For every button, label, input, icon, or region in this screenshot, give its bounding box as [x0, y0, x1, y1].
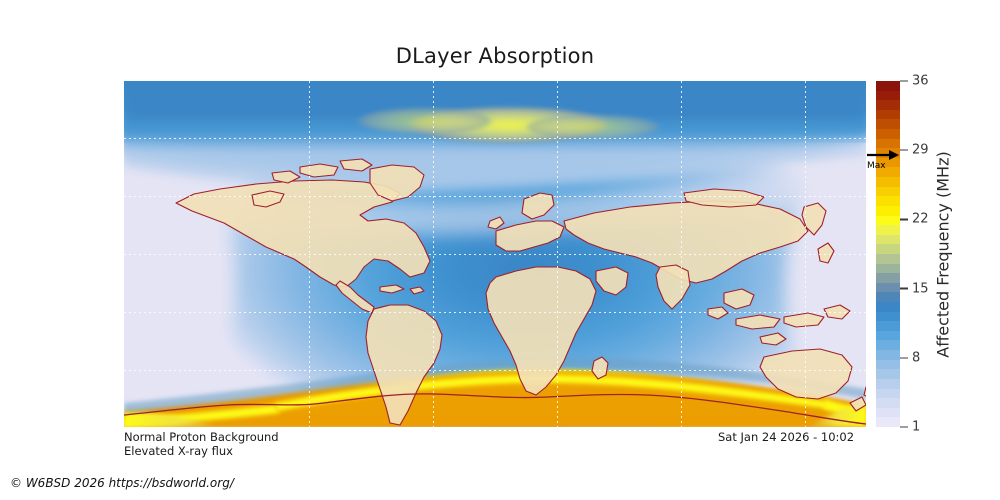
colorbar-tick-dash — [900, 80, 908, 81]
colorbar-segment — [876, 292, 900, 302]
colorbar-segment — [876, 91, 900, 100]
map-canvas — [124, 81, 866, 427]
colorbar-segment — [876, 302, 900, 312]
colorbar-tick: 1 — [900, 421, 920, 434]
colorbar-segment — [876, 321, 900, 331]
colorbar-segment — [876, 110, 900, 119]
colorbar-tick-label: 22 — [912, 213, 929, 226]
colorbar-segment — [876, 129, 900, 139]
colorbar-gradient — [876, 81, 900, 427]
colorbar-segment — [876, 119, 900, 129]
colorbar-segment — [876, 225, 900, 235]
colorbar-segment — [876, 331, 900, 340]
colorbar-tick-label: 15 — [912, 282, 929, 295]
colorbar-segment — [876, 244, 900, 254]
colorbar-tick-label: 1 — [912, 421, 920, 434]
colorbar-segment — [876, 254, 900, 264]
colorbar-segment — [876, 389, 900, 398]
colorbar-tick: 8 — [900, 351, 920, 364]
colorbar-segment — [876, 187, 900, 196]
colorbar-tick: 29 — [900, 144, 929, 157]
dlayer-absorption-figure: DLayer Absorption — [0, 0, 1000, 500]
colorbar-max-marker: Max — [866, 148, 900, 170]
colorbar-segment — [876, 340, 900, 350]
colorbar-tick: 36 — [900, 75, 929, 88]
colorbar-segment — [876, 139, 900, 148]
timestamp: Sat Jan 24 2026 - 10:02 — [718, 430, 854, 444]
colorbar-segment — [876, 235, 900, 244]
colorbar-segment — [876, 360, 900, 369]
colorbar-tick: 15 — [900, 282, 929, 295]
status-line-proton: Normal Proton Background — [124, 430, 279, 444]
colorbar-segment — [876, 206, 900, 216]
colorbar-axis-label-text: Affected Frequency (MHz) — [934, 151, 953, 357]
colorbar-segment — [876, 283, 900, 292]
colorbar-tick-label: 8 — [912, 351, 920, 364]
colorbar-segment — [876, 417, 900, 427]
colorbar[interactable]: 1815222936 Max — [876, 81, 900, 427]
colorbar-tick: 22 — [900, 213, 929, 226]
colorbar-segment — [876, 100, 900, 110]
colorbar-segment — [876, 273, 900, 283]
page-title: DLayer Absorption — [0, 44, 990, 68]
status-line-xray: Elevated X-ray flux — [124, 444, 233, 458]
colorbar-segment — [876, 264, 900, 273]
colorbar-tick-dash — [900, 219, 908, 220]
colorbar-segment — [876, 177, 900, 187]
colorbar-segment — [876, 216, 900, 225]
colorbar-segment — [876, 81, 900, 91]
colorbar-segment — [876, 408, 900, 417]
colorbar-tick-dash — [900, 357, 908, 358]
colorbar-segment — [876, 369, 900, 379]
colorbar-axis-label: Affected Frequency (MHz) — [932, 81, 954, 427]
svg-text:Max: Max — [867, 161, 886, 170]
colorbar-segment — [876, 379, 900, 389]
colorbar-segment — [876, 196, 900, 206]
copyright-notice: © W6BSD 2026 https://bsdworld.org/ — [10, 476, 234, 490]
colorbar-segment — [876, 312, 900, 321]
colorbar-tick-label: 36 — [912, 75, 929, 88]
colorbar-tick-dash — [900, 426, 908, 427]
colorbar-tick-dash — [900, 288, 908, 289]
colorbar-tick-label: 29 — [912, 144, 929, 157]
world-absorption-map[interactable] — [124, 81, 866, 427]
colorbar-tick-dash — [900, 149, 908, 150]
colorbar-segment — [876, 350, 900, 360]
colorbar-segment — [876, 398, 900, 408]
